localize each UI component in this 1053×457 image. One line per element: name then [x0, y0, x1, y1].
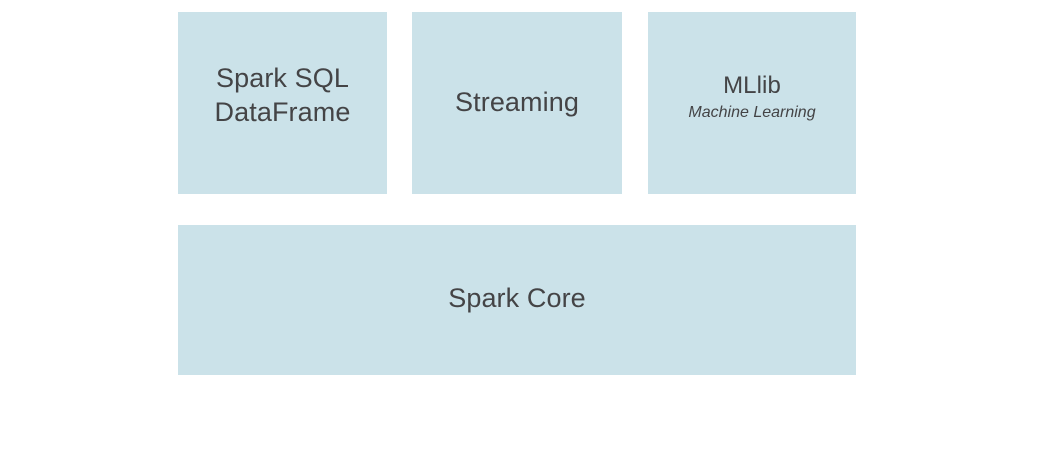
- block-spark-core[interactable]: Spark Core: [178, 225, 856, 375]
- block-mllib-text-stack: MLlib Machine Learning: [688, 71, 815, 123]
- block-mllib[interactable]: MLlib Machine Learning: [648, 12, 856, 194]
- block-mllib-title: MLlib: [723, 71, 781, 101]
- block-mllib-subtitle: Machine Learning: [688, 103, 815, 123]
- spark-stack-diagram: Spark SQL DataFrame Streaming MLlib Mach…: [0, 0, 1053, 457]
- block-streaming[interactable]: Streaming: [412, 12, 622, 194]
- block-spark-sql-title: Spark SQL DataFrame: [215, 61, 351, 129]
- block-spark-core-title: Spark Core: [448, 281, 586, 315]
- block-spark-sql[interactable]: Spark SQL DataFrame: [178, 12, 387, 194]
- block-streaming-title: Streaming: [455, 85, 579, 119]
